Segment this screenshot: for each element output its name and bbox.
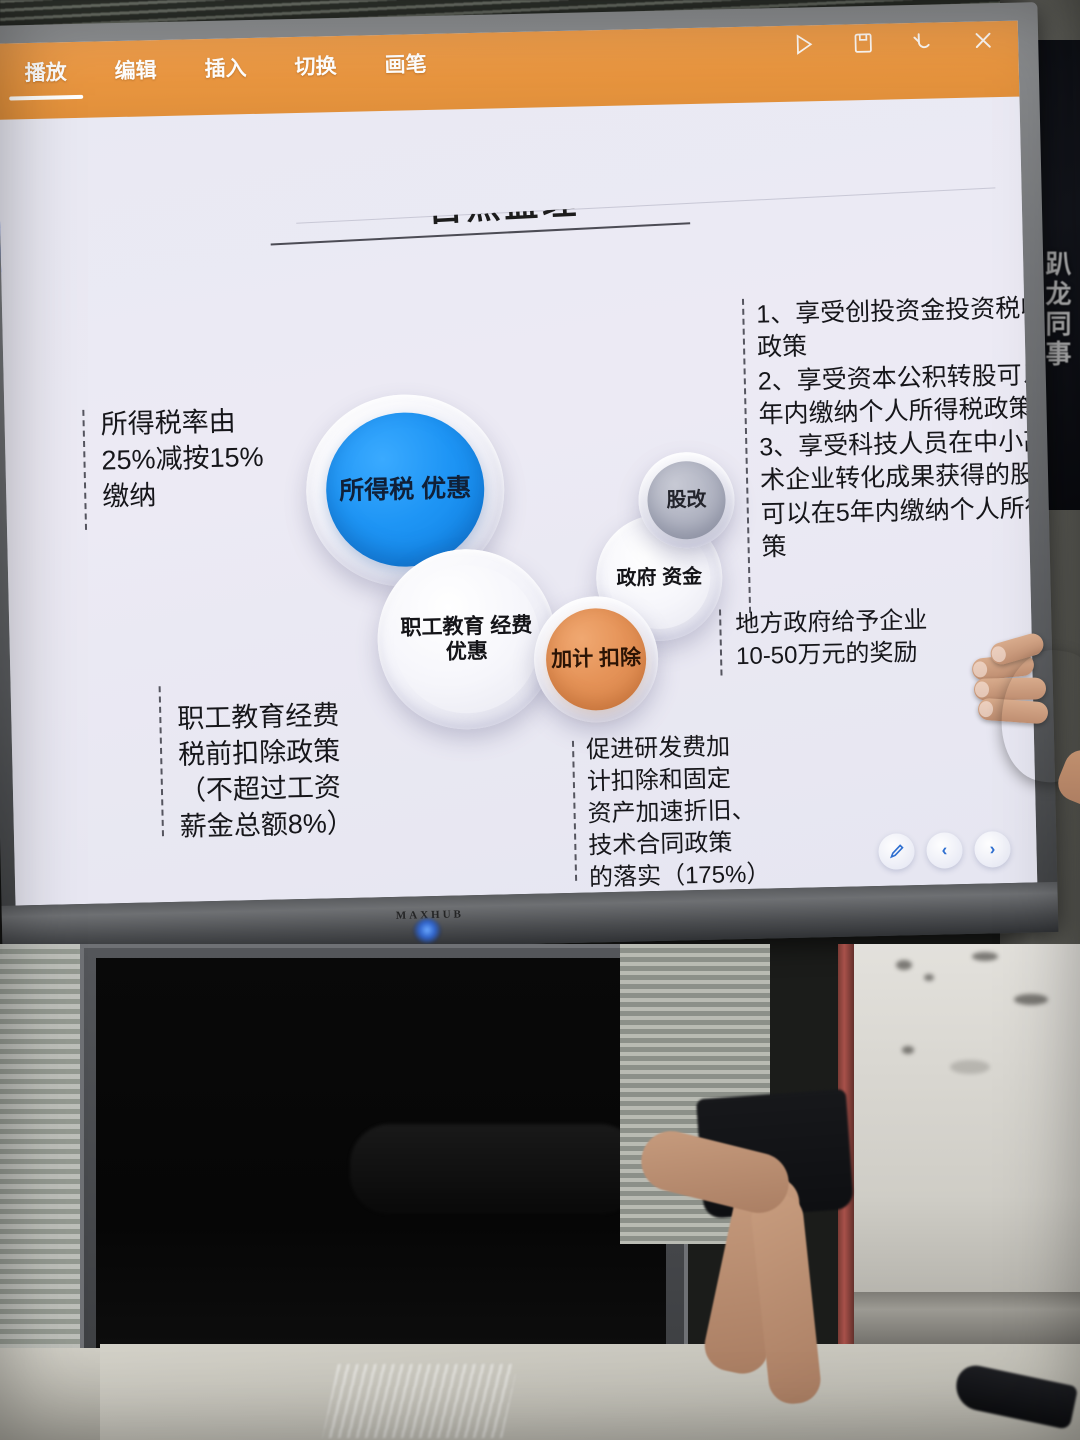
wall-skirting <box>854 1292 1080 1350</box>
list-item: 术企业转化成果获得的股权奖励 <box>760 458 1038 498</box>
list-item: 1、享受创投资金投资税收优惠 <box>756 292 1037 332</box>
bubble-line: 政府 <box>616 567 656 590</box>
bubble-line: 资金 <box>662 566 702 589</box>
callout-marker-right-list <box>742 299 751 613</box>
callout-marker-right-bottom <box>719 609 722 675</box>
list-item: 可以在5年内缴纳个人所得税政 <box>760 491 1037 531</box>
lower-room-scene <box>0 944 1080 1440</box>
slide-title-clip: 自然监理 <box>270 200 742 270</box>
slide-control-group: ‹ › <box>878 831 1011 870</box>
callout-left-bottom: 职工教育经费 税前扣除政策 （不超过工资 薪金总额8%） <box>177 698 354 846</box>
toolbar-actions <box>790 27 997 58</box>
tab-transition[interactable]: 切换 <box>270 36 361 94</box>
undo-icon[interactable] <box>910 28 937 55</box>
callout-line: 薪金总额8%） <box>179 806 354 846</box>
bubble-line: 扣除 <box>599 647 642 671</box>
bubble-line: 所得税 <box>339 475 415 505</box>
tab-edit[interactable]: 编辑 <box>90 40 181 98</box>
play-icon[interactable] <box>790 31 817 58</box>
callout-line: 计扣除和固定 <box>587 762 769 798</box>
save-icon[interactable] <box>850 30 877 57</box>
bubble-line: 股改 <box>666 489 706 512</box>
bubble-line: 职工教育 <box>400 615 485 640</box>
callout-right-bottom: 地方政府给予企业 10-50万元的奖励 <box>735 605 928 673</box>
callout-marker-left-bottom <box>159 686 164 836</box>
callout-line: 10-50万元的奖励 <box>736 637 929 673</box>
callout-line: 税前扣除政策 <box>178 734 353 774</box>
callout-line: 促进研发费加 <box>586 730 768 766</box>
bubble-line: 优惠 <box>421 474 472 503</box>
next-slide-icon[interactable]: › <box>974 831 1011 868</box>
callout-line: （不超过工资 <box>179 770 354 810</box>
tab-insert[interactable]: 插入 <box>180 38 271 96</box>
callout-marker-bottom <box>572 741 577 881</box>
slide-canvas: 自然监理 所得税率由 25%减按15% 缴纳 职工教育经费 税前扣除政策 （不超… <box>0 97 1037 906</box>
callout-line: 职工教育经费 <box>177 698 352 738</box>
list-item: 策 <box>761 524 1037 564</box>
callout-line: 技术合同政策 <box>588 826 770 862</box>
bubble-line: 加计 <box>551 648 594 672</box>
toolbar-tab-group: 播放 编辑 插入 切换 画笔 <box>0 33 451 99</box>
interactive-display: 播放 编辑 插入 切换 画笔 <box>0 2 1058 956</box>
right-list: 1、享受创投资金投资税收优惠 政策 2、享受资本公积转股可以在5 年内缴纳个人所… <box>756 292 1037 565</box>
callout-left-top: 所得税率由 25%减按15% 缴纳 <box>100 404 264 515</box>
pen-icon[interactable] <box>878 833 915 870</box>
prev-slide-icon[interactable]: ‹ <box>926 832 963 869</box>
floor-reflection <box>322 1364 518 1438</box>
dark-object <box>350 1124 640 1214</box>
floor-tiles <box>100 1344 1080 1440</box>
callout-line: 25%减按15% <box>101 440 264 480</box>
back-wall <box>854 944 1080 1304</box>
callout-line: 资产加速折旧、 <box>587 794 769 830</box>
tab-pen[interactable]: 画笔 <box>360 33 451 91</box>
callout-line: 所得税率由 <box>100 404 263 444</box>
callout-marker-left-top <box>82 410 87 530</box>
callout-bottom: 促进研发费加 计扣除和固定 资产加速折旧、 技术合同政策 的落实（175%） <box>586 730 771 894</box>
close-icon[interactable] <box>970 27 997 54</box>
callout-line: 缴纳 <box>102 476 265 516</box>
power-led <box>412 918 443 945</box>
display-screen: 播放 编辑 插入 切换 画笔 <box>0 21 1037 906</box>
tab-play[interactable]: 播放 <box>0 42 91 100</box>
screenshot-root: 趴龙同事 播放 编辑 插入 切换 画笔 <box>0 0 1080 1440</box>
callout-line: 地方政府给予企业 <box>735 605 928 641</box>
